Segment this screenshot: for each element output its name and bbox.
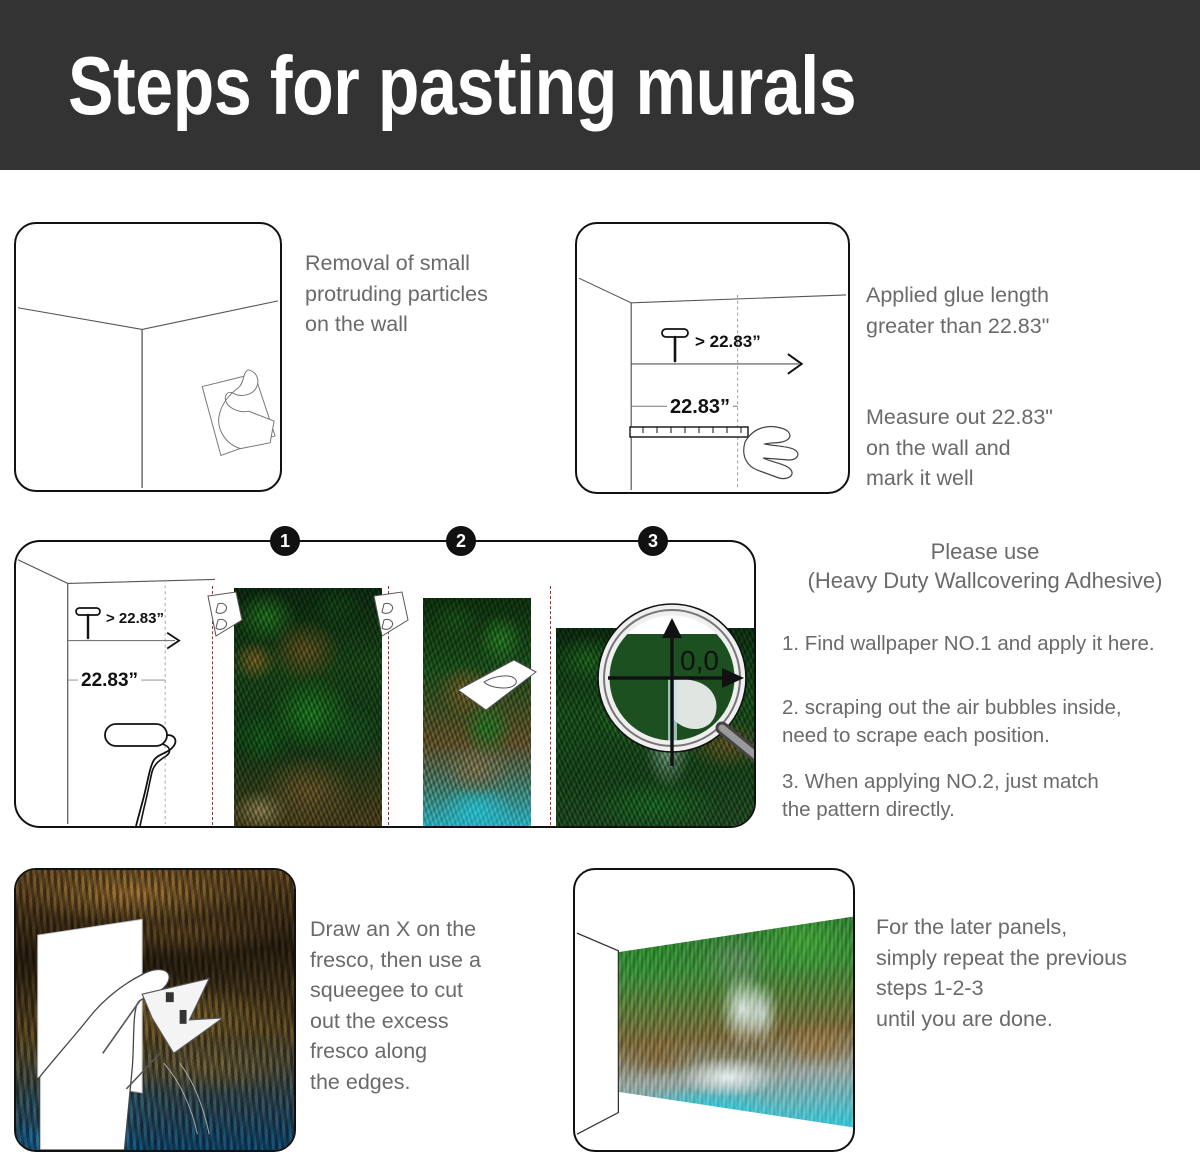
hand-peeling-icon	[368, 590, 410, 642]
step2-measure-label: 22.83”	[667, 396, 733, 419]
step3-panel: > 22.83” 22.83”	[14, 540, 756, 828]
origin-label: 0,0	[680, 645, 719, 676]
step2-caption-top: Applied glue length greater than 22.83"	[866, 280, 1156, 341]
magnifier-icon: 0,0	[588, 594, 756, 780]
badge-3: 3	[638, 526, 668, 556]
badge-2: 2	[446, 526, 476, 556]
adhesive-heading-line1: Please use	[780, 538, 1190, 567]
step4-panel	[14, 868, 296, 1152]
step3-measure-label: 22.83”	[78, 670, 141, 692]
step3-instruction-1: 1. Find wallpaper NO.1 and apply it here…	[782, 630, 1194, 658]
hand-peeling-icon	[202, 590, 244, 642]
seam-line	[550, 586, 551, 828]
step4-caption: Draw an X on the fresco, then use a sque…	[310, 914, 560, 1097]
page-header: Steps for pasting murals	[0, 0, 1200, 170]
step5-panel	[573, 868, 855, 1152]
step3-instruction-2: 2. scraping out the air bubbles inside, …	[782, 694, 1194, 751]
step5-caption: For the later panels, simply repeat the …	[876, 912, 1200, 1034]
finished-mural-photo	[619, 916, 855, 1128]
adhesive-heading: Please use (Heavy Duty Wallcovering Adhe…	[780, 538, 1190, 595]
instruction-sheet: Steps for pasting murals Removal of smal…	[0, 0, 1200, 1152]
step2-caption-bottom: Measure out 22.83" on the wall and mark …	[866, 402, 1166, 494]
tape-measure-icon	[629, 424, 749, 442]
hand-with-scraper-icon	[16, 224, 280, 490]
step1-caption: Removal of small protruding particles on…	[305, 248, 565, 340]
step1-panel	[14, 222, 282, 492]
step3-instruction-3: 3. When applying NO.2, just match the pa…	[782, 768, 1194, 825]
page-title: Steps for pasting murals	[0, 44, 856, 127]
wallpaper-strip-1	[234, 588, 382, 828]
hand-pointing-icon	[737, 402, 807, 492]
step2-panel: > 22.83” 22.83”	[575, 222, 850, 494]
paint-roller-icon	[102, 720, 192, 828]
badge-1: 1	[270, 526, 300, 556]
adhesive-heading-line2: (Heavy Duty Wallcovering Adhesive)	[780, 567, 1190, 596]
arrow-right-icon	[577, 224, 848, 492]
hand-with-squeegee-icon	[16, 870, 294, 1150]
hand-peeling-icon	[456, 654, 538, 714]
